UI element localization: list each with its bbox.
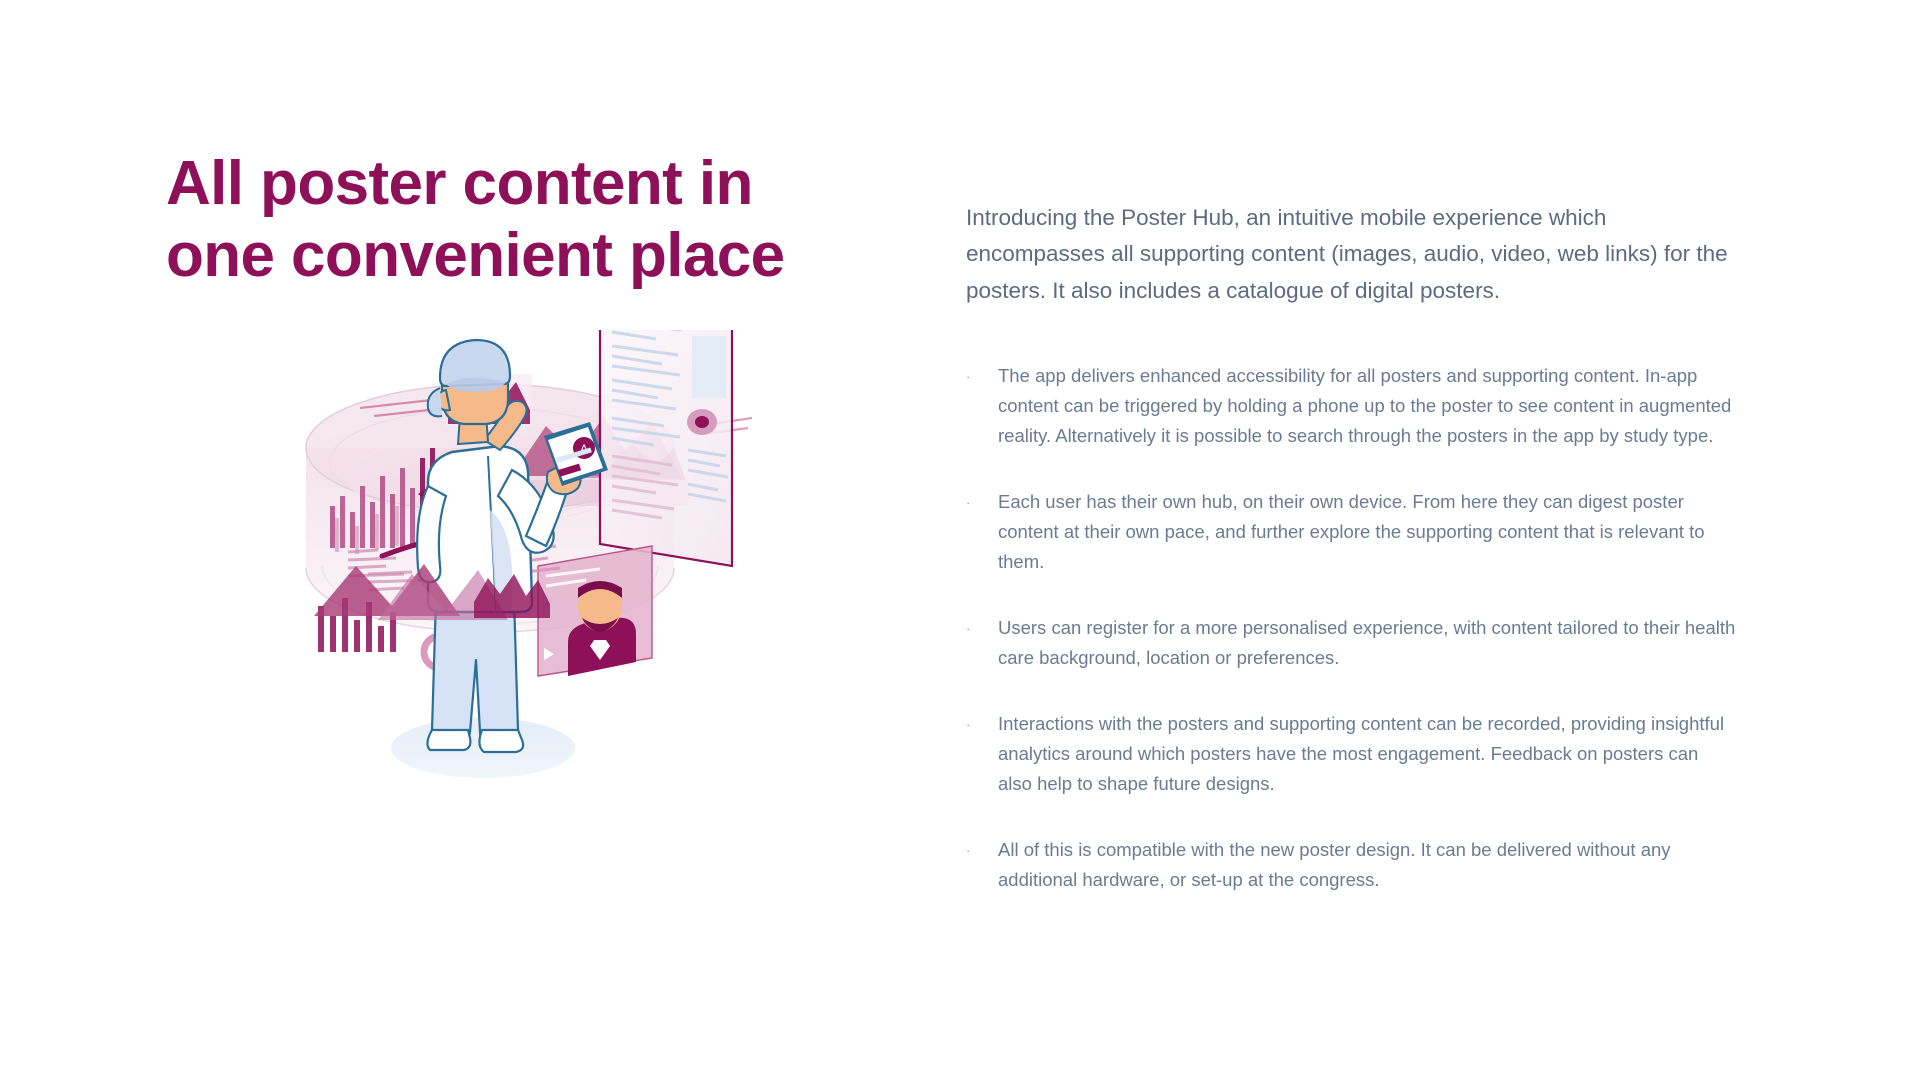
list-item-text: Users can register for a more personalis… [998,613,1736,673]
list-item: · The app delivers enhanced accessibilit… [966,361,1756,451]
list-item: · Interactions with the posters and supp… [966,709,1756,799]
hero-illustration: A [300,330,900,1020]
bullet-marker-icon: · [966,361,998,383]
list-item-text: Interactions with the posters and suppor… [998,709,1736,799]
page-title: All poster content in one convenient pla… [166,148,886,292]
list-item-text: All of this is compatible with the new p… [998,835,1736,895]
video-thumbnail [538,546,652,676]
list-item: · Users can register for a more personal… [966,613,1756,673]
left-column: All poster content in one convenient pla… [0,0,960,1080]
list-item-text: The app delivers enhanced accessibility … [998,361,1736,451]
list-item: · Each user has their own hub, on their … [966,487,1756,577]
feature-bullet-list: · The app delivers enhanced accessibilit… [966,361,1756,895]
bullet-marker-icon: · [966,709,998,731]
page-title-line-1: All poster content in [166,148,886,220]
bullet-marker-icon: · [966,835,998,857]
bullet-marker-icon: · [966,613,998,635]
right-column: Introducing the Poster Hub, an intuitive… [966,200,1756,895]
page-title-line-2: one convenient place [166,220,886,292]
list-item-text: Each user has their own hub, on their ow… [998,487,1736,577]
list-item: · All of this is compatible with the new… [966,835,1756,895]
slide-root: All poster content in one convenient pla… [0,0,1920,1080]
intro-paragraph: Introducing the Poster Hub, an intuitive… [966,200,1736,309]
poster-panel [600,330,732,566]
poster-panel-media-dot [687,409,717,435]
bullet-marker-icon: · [966,487,998,509]
